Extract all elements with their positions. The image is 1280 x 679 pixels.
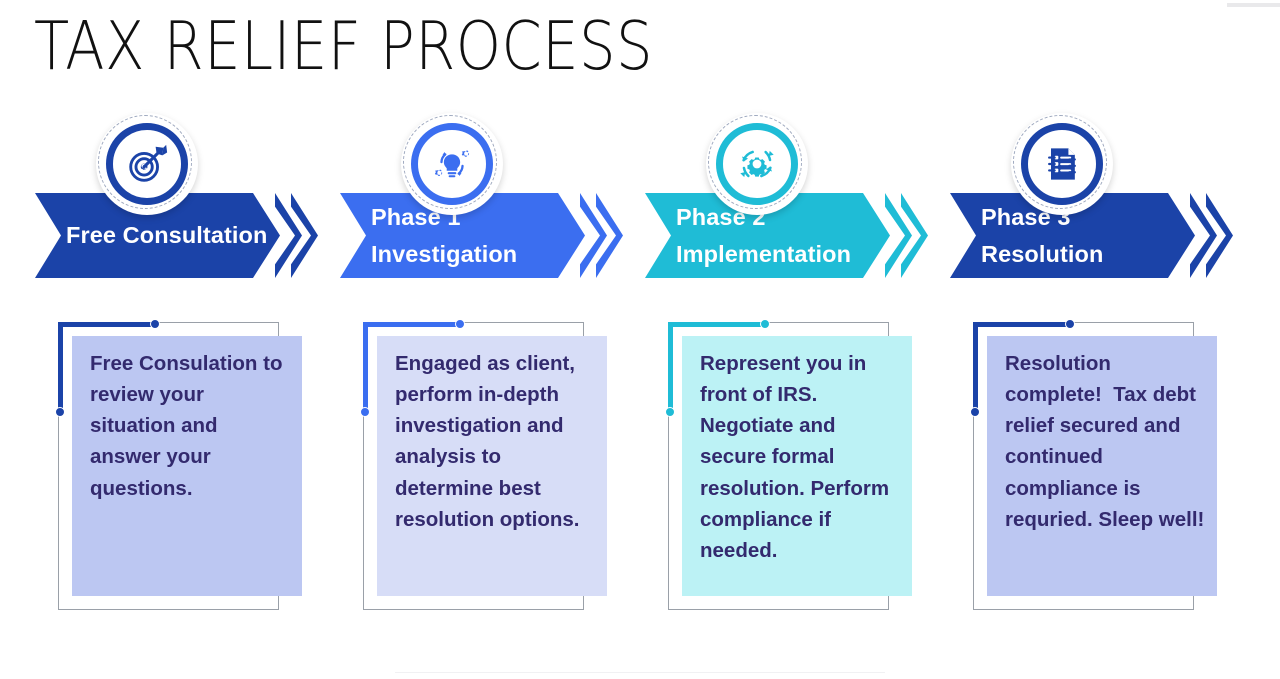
- card-dot-left: [665, 407, 675, 417]
- card-accent-horizontal: [668, 322, 765, 327]
- banner-label-line2: Investigation: [371, 236, 571, 272]
- card-accent-vertical: [363, 322, 368, 414]
- card-accent-horizontal: [58, 322, 155, 327]
- phase-description-card: Engaged as client, perform in-depth inve…: [329, 322, 584, 610]
- phase-description-card: Resolution complete! Tax debt relief sec…: [939, 322, 1194, 610]
- banner-label-line2: Resolution: [981, 236, 1181, 272]
- phase-icon-badge: [1011, 113, 1113, 215]
- lightbulb-gears-icon: [427, 139, 477, 189]
- phase-icon-badge: $: [96, 113, 198, 215]
- phase-description-card: Represent you in front of IRS. Negotiate…: [634, 322, 889, 610]
- phase-column-phase-1: Phase 1 Investigation Engaged as client,…: [305, 0, 610, 679]
- card-accent-vertical: [668, 322, 673, 414]
- phase-icon-badge: [706, 113, 808, 215]
- target-dollar-arrow-icon: $: [122, 139, 172, 189]
- card-dot-top: [150, 319, 160, 329]
- card-accent-vertical: [58, 322, 63, 414]
- phase-icon-badge: [401, 113, 503, 215]
- phase-description-card: Free Consulation to review your situatio…: [24, 322, 279, 610]
- phase-column-free-consultation: $ Free Consultation Free Consulation to …: [0, 0, 305, 679]
- card-body-text: Resolution complete! Tax debt relief sec…: [1005, 348, 1205, 535]
- document-checklist-icon: [1037, 139, 1087, 189]
- card-body-text: Free Consulation to review your situatio…: [90, 348, 290, 504]
- card-dot-top: [1065, 319, 1075, 329]
- card-accent-vertical: [973, 322, 978, 414]
- card-dot-top: [455, 319, 465, 329]
- phase-column-phase-2: Phase 2 Implementation Represent you in …: [610, 0, 915, 679]
- card-accent-horizontal: [363, 322, 460, 327]
- banner-label-line2: Implementation: [676, 236, 876, 272]
- card-body-text: Engaged as client, perform in-depth inve…: [395, 348, 595, 535]
- banner-label-line1: Free Consultation: [66, 217, 266, 253]
- slide-top-edge-artifact: [1227, 3, 1280, 7]
- card-dot-left: [55, 407, 65, 417]
- card-body-text: Represent you in front of IRS. Negotiate…: [700, 348, 900, 566]
- card-dot-top: [760, 319, 770, 329]
- phase-column-phase-3: Phase 3 Resolution Resolution complete! …: [915, 0, 1220, 679]
- card-dot-left: [970, 407, 980, 417]
- card-dot-left: [360, 407, 370, 417]
- gear-cycle-icon: [732, 139, 782, 189]
- card-accent-horizontal: [973, 322, 1070, 327]
